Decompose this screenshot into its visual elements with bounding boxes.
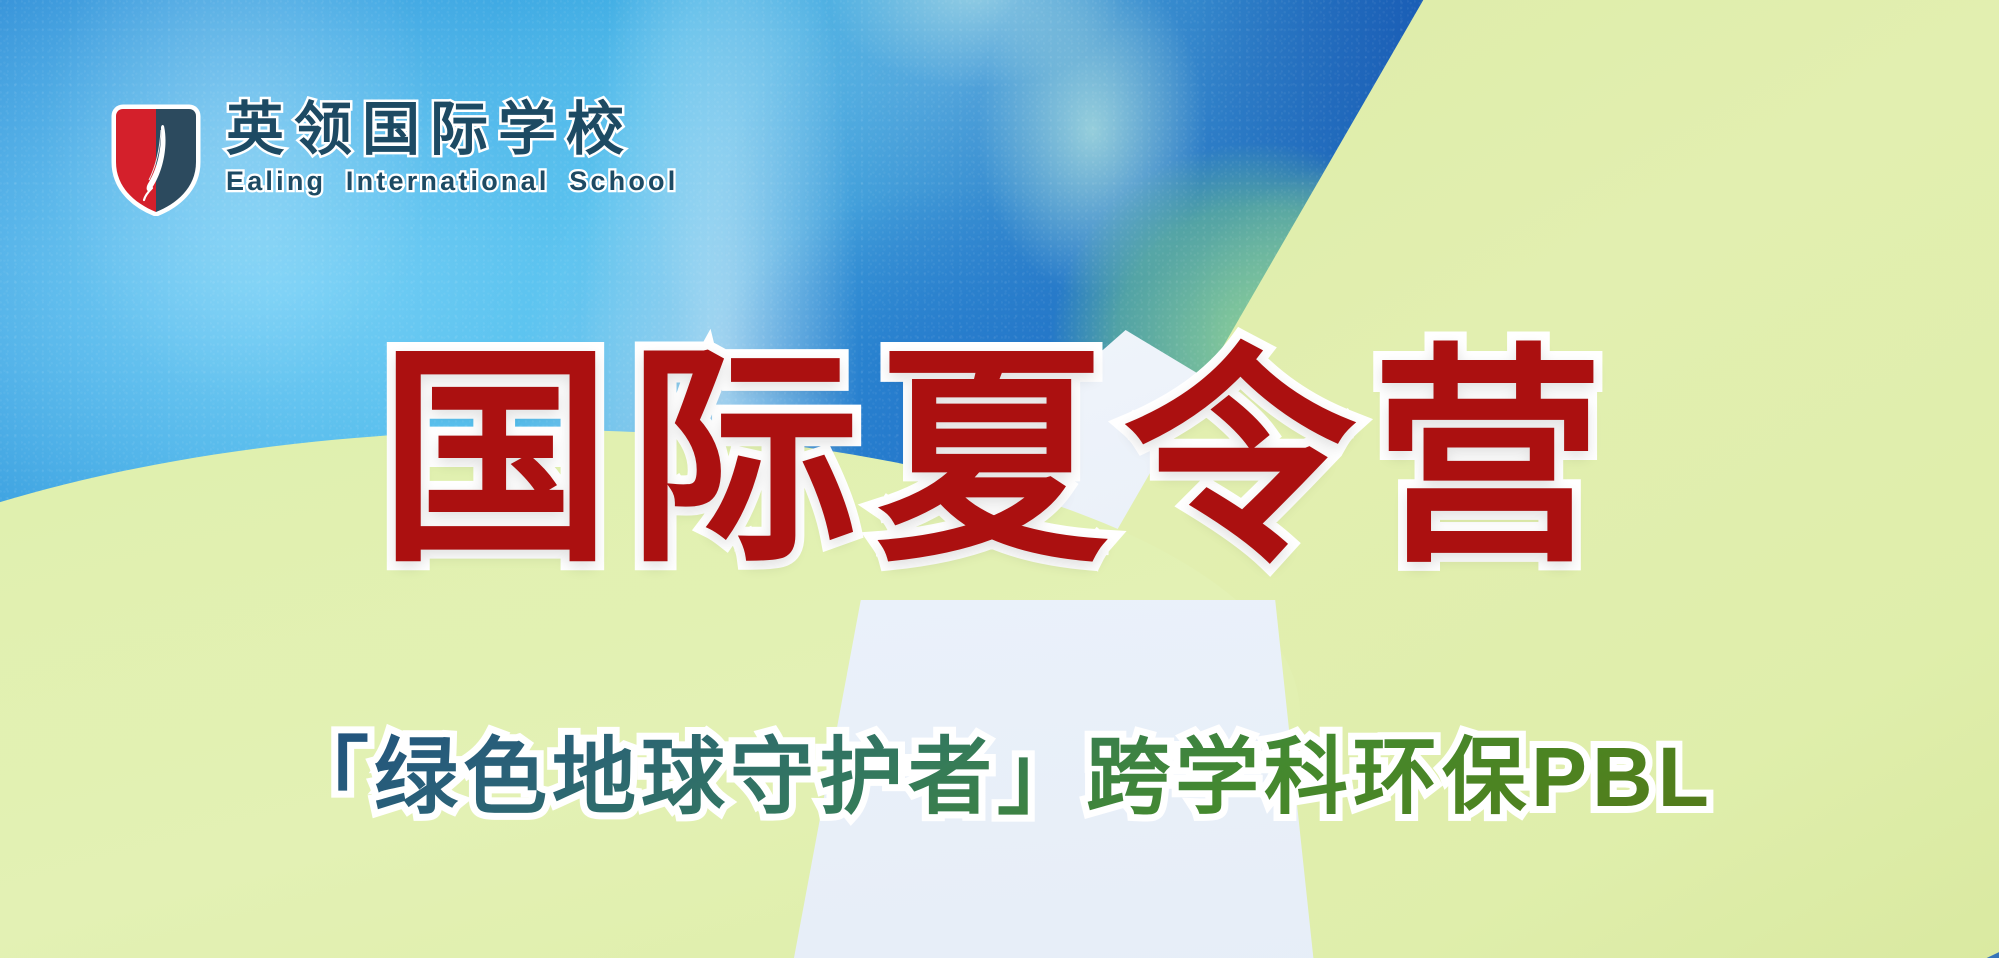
- school-shield-quill-icon: [108, 104, 204, 216]
- subtitle-text: 「绿色地球守护者」跨学科环保PBL: [285, 710, 1714, 831]
- summer-camp-banner: 英领国际学校 Ealing International School 国际夏令营…: [0, 0, 1999, 958]
- subtitle-wrapper: 「绿色地球守护者」跨学科环保PBL「绿色地球守护者」跨学科环保PBL: [285, 710, 1714, 831]
- school-logo[interactable]: 英领国际学校 Ealing International School: [108, 100, 678, 216]
- logo-text-block: 英领国际学校 Ealing International School: [226, 100, 678, 197]
- school-name-en: Ealing International School: [226, 166, 678, 197]
- school-name-cn: 英领国际学校: [226, 100, 678, 161]
- main-title: 国际夏令营: [0, 344, 1999, 576]
- subtitle: 「绿色地球守护者」跨学科环保PBL「绿色地球守护者」跨学科环保PBL: [0, 710, 1999, 831]
